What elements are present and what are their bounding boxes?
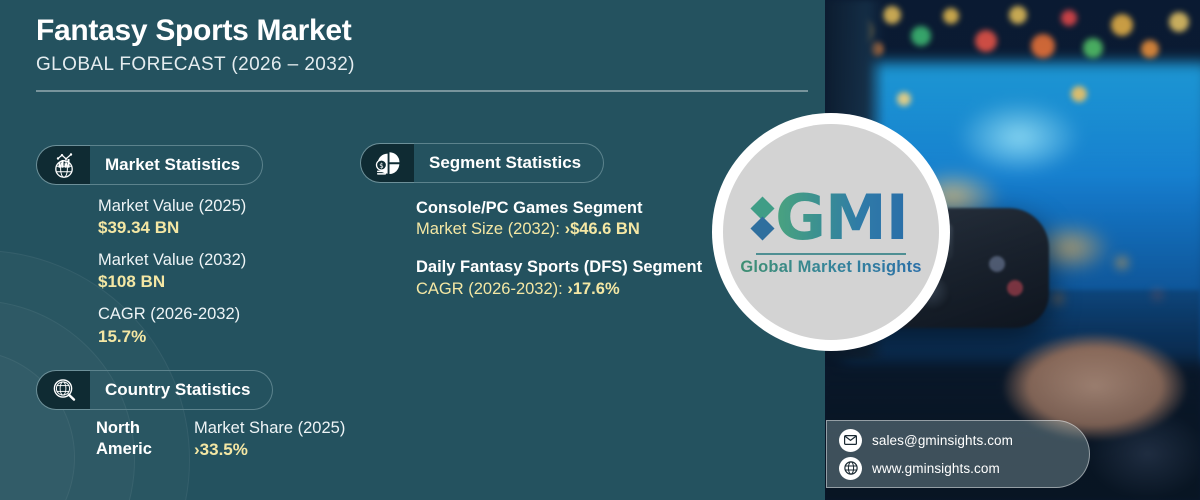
stat-value: 15.7%: [98, 326, 328, 348]
stat-row: Market Value (2025) $39.34 BN: [98, 196, 328, 239]
stat-label: Market Value (2032): [98, 250, 328, 271]
segment-row: Console/PC Games Segment Market Size (20…: [416, 198, 716, 241]
section-title-segment: Segment Statistics: [429, 153, 581, 173]
stat-row: Market Value (2032) $108 BN: [98, 250, 328, 293]
contact-email-row[interactable]: sales@gminsights.com: [839, 429, 1089, 452]
infographic-canvas: GMI Global Market Insights sales@gminsig…: [0, 0, 1200, 500]
section-title-country: Country Statistics: [105, 380, 250, 400]
segment-metric-value: $46.6 BN: [570, 220, 640, 238]
gmi-logo-circle: GMI Global Market Insights: [723, 124, 939, 340]
gmi-wordmark: GMI: [775, 187, 908, 249]
contact-website-row[interactable]: www.gminsights.com: [839, 457, 1089, 480]
segment-statistics-list: Console/PC Games Segment Market Size (20…: [416, 198, 716, 300]
gmi-tagline: Global Market Insights: [740, 258, 921, 277]
contact-website-text: www.gminsights.com: [872, 461, 1000, 476]
segment-metric-label: Market Size (2032):: [416, 220, 565, 238]
header-divider: [36, 90, 808, 92]
globe-icon: [839, 457, 862, 480]
market-statistics-list: Market Value (2025) $39.34 BN Market Val…: [98, 196, 328, 348]
gmi-logo: GMI Global Market Insights: [712, 113, 950, 351]
globe-search-icon: [36, 370, 90, 410]
globe-bar-chart-icon: [36, 145, 90, 185]
diamond-icon: [754, 200, 771, 237]
section-header-market-statistics: Market Statistics: [36, 145, 263, 185]
country-metric: Market Share (2025) ›33.5%: [194, 418, 345, 461]
stat-label: CAGR (2026-2032): [98, 304, 328, 325]
section-title-pill-market: Market Statistics: [89, 145, 263, 185]
segment-metric-label: CAGR (2026-2032):: [416, 280, 567, 298]
gmi-logo-row: GMI: [754, 187, 908, 249]
segment-metric-value: 17.6%: [573, 280, 620, 298]
segment-name: Daily Fantasy Sports (DFS) Segment: [416, 257, 716, 278]
header: Fantasy Sports Market GLOBAL FORECAST (2…: [36, 14, 796, 76]
page-title: Fantasy Sports Market: [36, 14, 796, 49]
segment-metric: Market Size (2032): ›$46.6 BN: [416, 219, 716, 241]
stat-row: CAGR (2026-2032) 15.7%: [98, 304, 328, 347]
contact-bar: sales@gminsights.com www.gminsights.com: [826, 420, 1090, 488]
section-title-pill-segment: Segment Statistics: [413, 143, 604, 183]
country-metric-label: Market Share (2025): [194, 418, 345, 439]
segment-row: Daily Fantasy Sports (DFS) Segment CAGR …: [416, 257, 716, 300]
contact-email-text: sales@gminsights.com: [872, 433, 1013, 448]
envelope-icon: [839, 429, 862, 452]
country-metric-value: 33.5%: [200, 440, 248, 459]
content-area: Fantasy Sports Market GLOBAL FORECAST (2…: [0, 0, 825, 500]
section-title-market: Market Statistics: [105, 155, 240, 175]
country-region: North Americ: [96, 418, 176, 461]
pie-chart-money-icon: $: [360, 143, 414, 183]
stat-value: $108 BN: [98, 271, 328, 293]
country-metric-value-row: ›33.5%: [194, 439, 345, 461]
country-region-line2: Americ: [96, 439, 176, 460]
page-subtitle: GLOBAL FORECAST (2026 – 2032): [36, 54, 796, 76]
section-header-country-statistics: Country Statistics: [36, 370, 273, 410]
svg-text:$: $: [379, 162, 383, 170]
country-statistics-list: North Americ Market Share (2025) ›33.5%: [96, 418, 426, 461]
segment-metric: CAGR (2026-2032): ›17.6%: [416, 279, 716, 301]
country-region-line1: North: [96, 418, 176, 439]
segment-name: Console/PC Games Segment: [416, 198, 716, 219]
section-title-pill-country: Country Statistics: [89, 370, 273, 410]
stat-label: Market Value (2025): [98, 196, 328, 217]
stat-value: $39.34 BN: [98, 217, 328, 239]
section-header-segment-statistics: $ Segment Statistics: [360, 143, 604, 183]
logo-divider: [756, 253, 906, 255]
